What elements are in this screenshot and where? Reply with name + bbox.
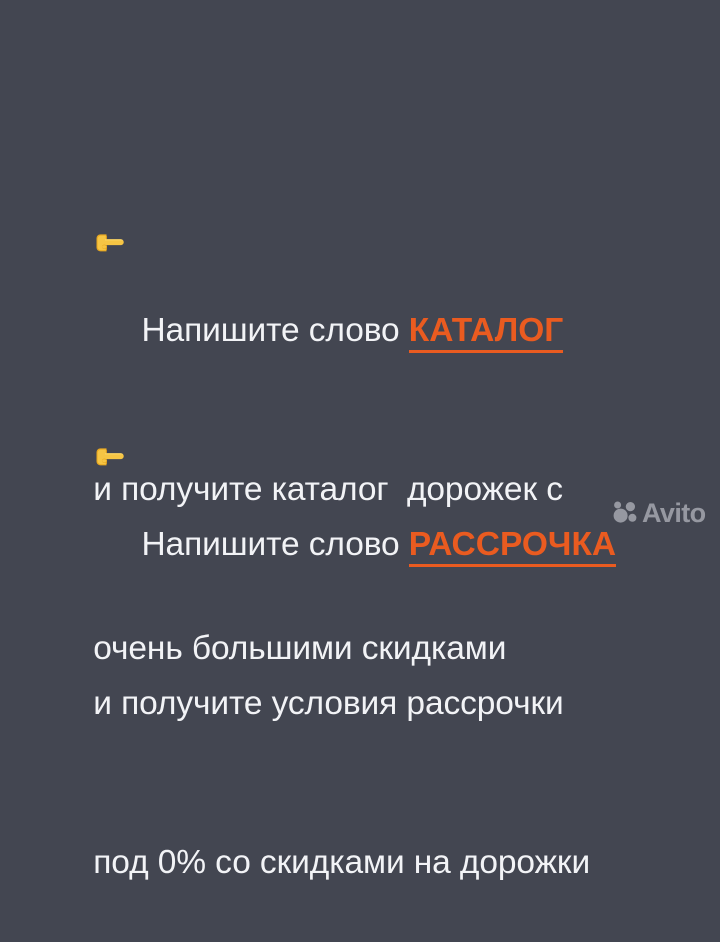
avito-wordmark: Avito — [642, 500, 706, 526]
avito-dots-logo-icon — [612, 500, 640, 526]
keyword-rassrochka[interactable]: РАССРОЧКА — [409, 526, 616, 567]
pointing-right-hand-icon — [93, 125, 126, 149]
promo-line-text: и получите условия рассрочки — [93, 685, 563, 722]
promo-line-text: Напишите слово — [132, 526, 409, 563]
promo-block-rassrochka: Напишите слово РАССРОЧКА и получите усло… — [38, 286, 708, 942]
promo-line-text: под 0% со скидками на дорожки — [93, 844, 590, 881]
avito-watermark: Avito — [612, 500, 706, 526]
promo-line: Напишите слово РАССРОЧКА — [38, 286, 708, 624]
promo-line: под 0% со скидками на дорожки — [38, 783, 708, 942]
pointing-right-hand-icon — [93, 339, 126, 363]
promo-banner: Напишите слово КАТАЛОГ и получите катало… — [0, 0, 720, 540]
promo-line: и получите условия рассрочки — [38, 624, 708, 783]
